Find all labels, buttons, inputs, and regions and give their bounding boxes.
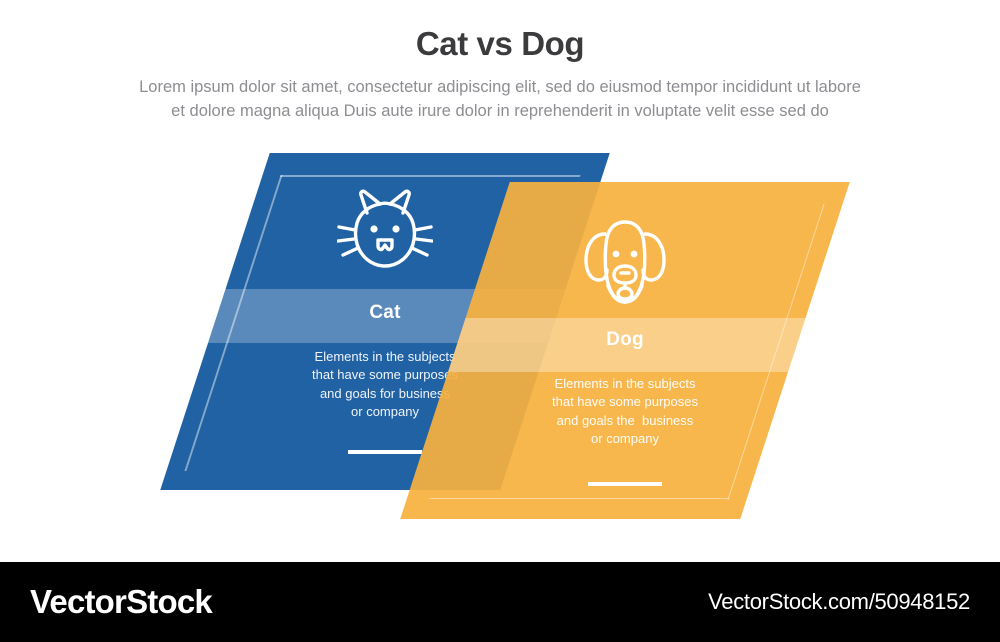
card-dog-desc-line-1: Elements in the subjects (510, 375, 740, 393)
card-dog-desc-line-4: or company (510, 430, 740, 448)
dog-face-icon (577, 210, 673, 314)
card-dog-deco-horizontal (429, 498, 729, 500)
card-cat-divider (348, 450, 422, 454)
card-dog-desc-line-3: and goals the business (510, 412, 740, 430)
vectorstock-url: VectorStock.com/50948152 (708, 589, 970, 615)
card-dog-desc-line-2: that have some purposes (510, 393, 740, 411)
comparison-cards: Cat Elements in the subjects that have s… (0, 0, 1000, 560)
card-dog-description: Elements in the subjects that have some … (510, 375, 740, 449)
vectorstock-logo: VectorStock (30, 583, 212, 621)
infographic-canvas: Cat vs Dog Lorem ipsum dolor sit amet, c… (0, 0, 1000, 642)
card-dog-divider (588, 482, 662, 486)
footer-watermark: VectorStock VectorStock.com/50948152 (0, 562, 1000, 642)
card-cat-deco-horizontal (280, 175, 580, 177)
cat-face-icon (337, 183, 433, 287)
